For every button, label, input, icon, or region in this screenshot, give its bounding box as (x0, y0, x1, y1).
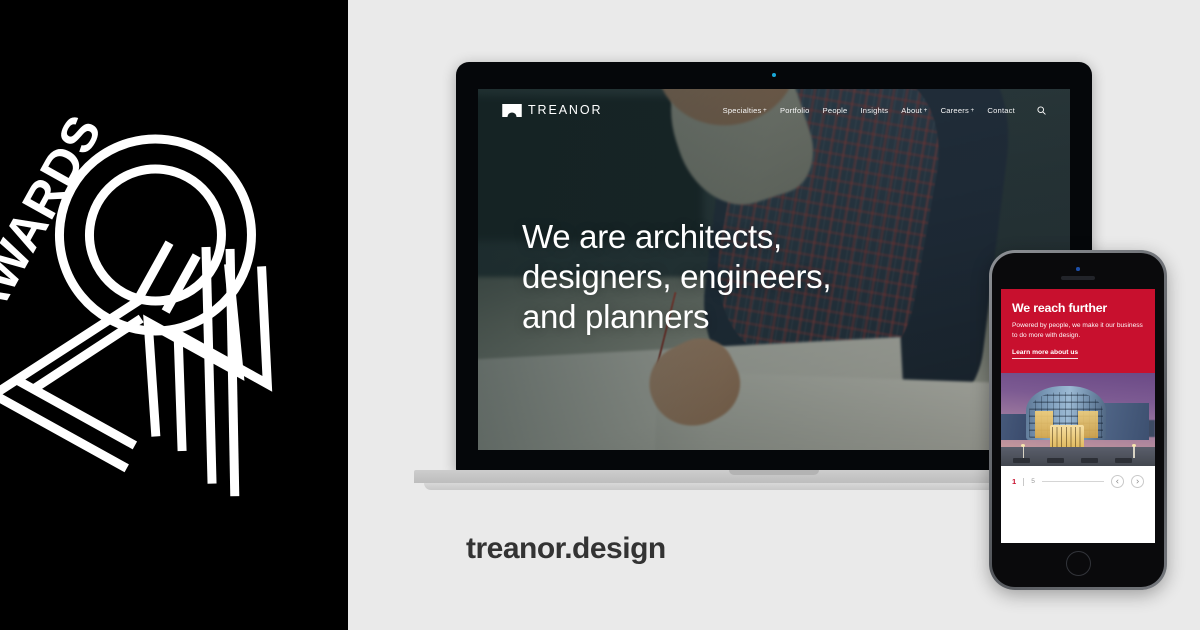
carousel-prev-button[interactable] (1111, 475, 1124, 488)
webcam-icon (772, 73, 776, 77)
carousel-controls: 1 5 (1001, 466, 1155, 498)
hero-line-1: We are architects, (522, 217, 831, 257)
chevron-left-icon (1115, 479, 1120, 484)
nav-item-people[interactable]: People (823, 106, 848, 115)
laptop-base-notch (729, 470, 819, 475)
hero-headline: We are architects, designers, engineers,… (522, 217, 831, 337)
nav-item-contact[interactable]: Contact (987, 106, 1015, 115)
phone-project-image (1001, 373, 1155, 466)
laptop-screen: TREANOR Specialties+ Portfolio People (478, 89, 1070, 450)
w3-awards-logo: AWARDS (0, 23, 348, 608)
hero-line-3: and planners (522, 297, 831, 337)
device-showcase-stage: TREANOR Specialties+ Portfolio People (348, 0, 1200, 630)
front-camera-icon (1076, 267, 1080, 271)
phone-card-body: Powered by people, we make it our busine… (1012, 321, 1144, 340)
brand-name: TREANOR (528, 103, 602, 117)
site-url-label: treanor.design (466, 532, 666, 566)
nav-item-specialties[interactable]: Specialties+ (723, 106, 767, 115)
arch-mark-icon (502, 104, 522, 117)
earpiece-speaker-icon (1061, 276, 1095, 280)
search-icon[interactable] (1037, 106, 1046, 115)
nav-item-careers[interactable]: Careers+ (941, 106, 975, 115)
phone-screen: We reach further Powered by people, we m… (1001, 289, 1155, 543)
nav-item-about[interactable]: About+ (901, 106, 927, 115)
phone-card-heading: We reach further (1012, 301, 1144, 315)
carousel-next-button[interactable] (1131, 475, 1144, 488)
nav-item-insights[interactable]: Insights (860, 106, 888, 115)
phone-frame: We reach further Powered by people, we m… (989, 250, 1167, 590)
phone-promo-card: We reach further Powered by people, we m… (1001, 289, 1155, 373)
chevron-right-icon (1135, 479, 1140, 484)
carousel-total-count: 5 (1031, 478, 1035, 485)
learn-more-link[interactable]: Learn more about us (1012, 349, 1078, 359)
site-navbar: TREANOR Specialties+ Portfolio People (478, 89, 1070, 131)
carousel-separator (1023, 478, 1024, 486)
brand-logo[interactable]: TREANOR (502, 103, 602, 117)
carousel-progress-track[interactable] (1042, 481, 1104, 482)
phone-device: We reach further Powered by people, we m… (989, 250, 1167, 590)
award-panel: AWARDS (0, 0, 348, 630)
carousel-current-index: 1 (1012, 477, 1016, 486)
phone-bezel: We reach further Powered by people, we m… (992, 253, 1164, 587)
nav-item-portfolio[interactable]: Portfolio (780, 106, 810, 115)
hero-line-2: designers, engineers, (522, 257, 831, 297)
home-button[interactable] (1066, 551, 1091, 576)
primary-nav: Specialties+ Portfolio People Insights A (723, 106, 1046, 115)
